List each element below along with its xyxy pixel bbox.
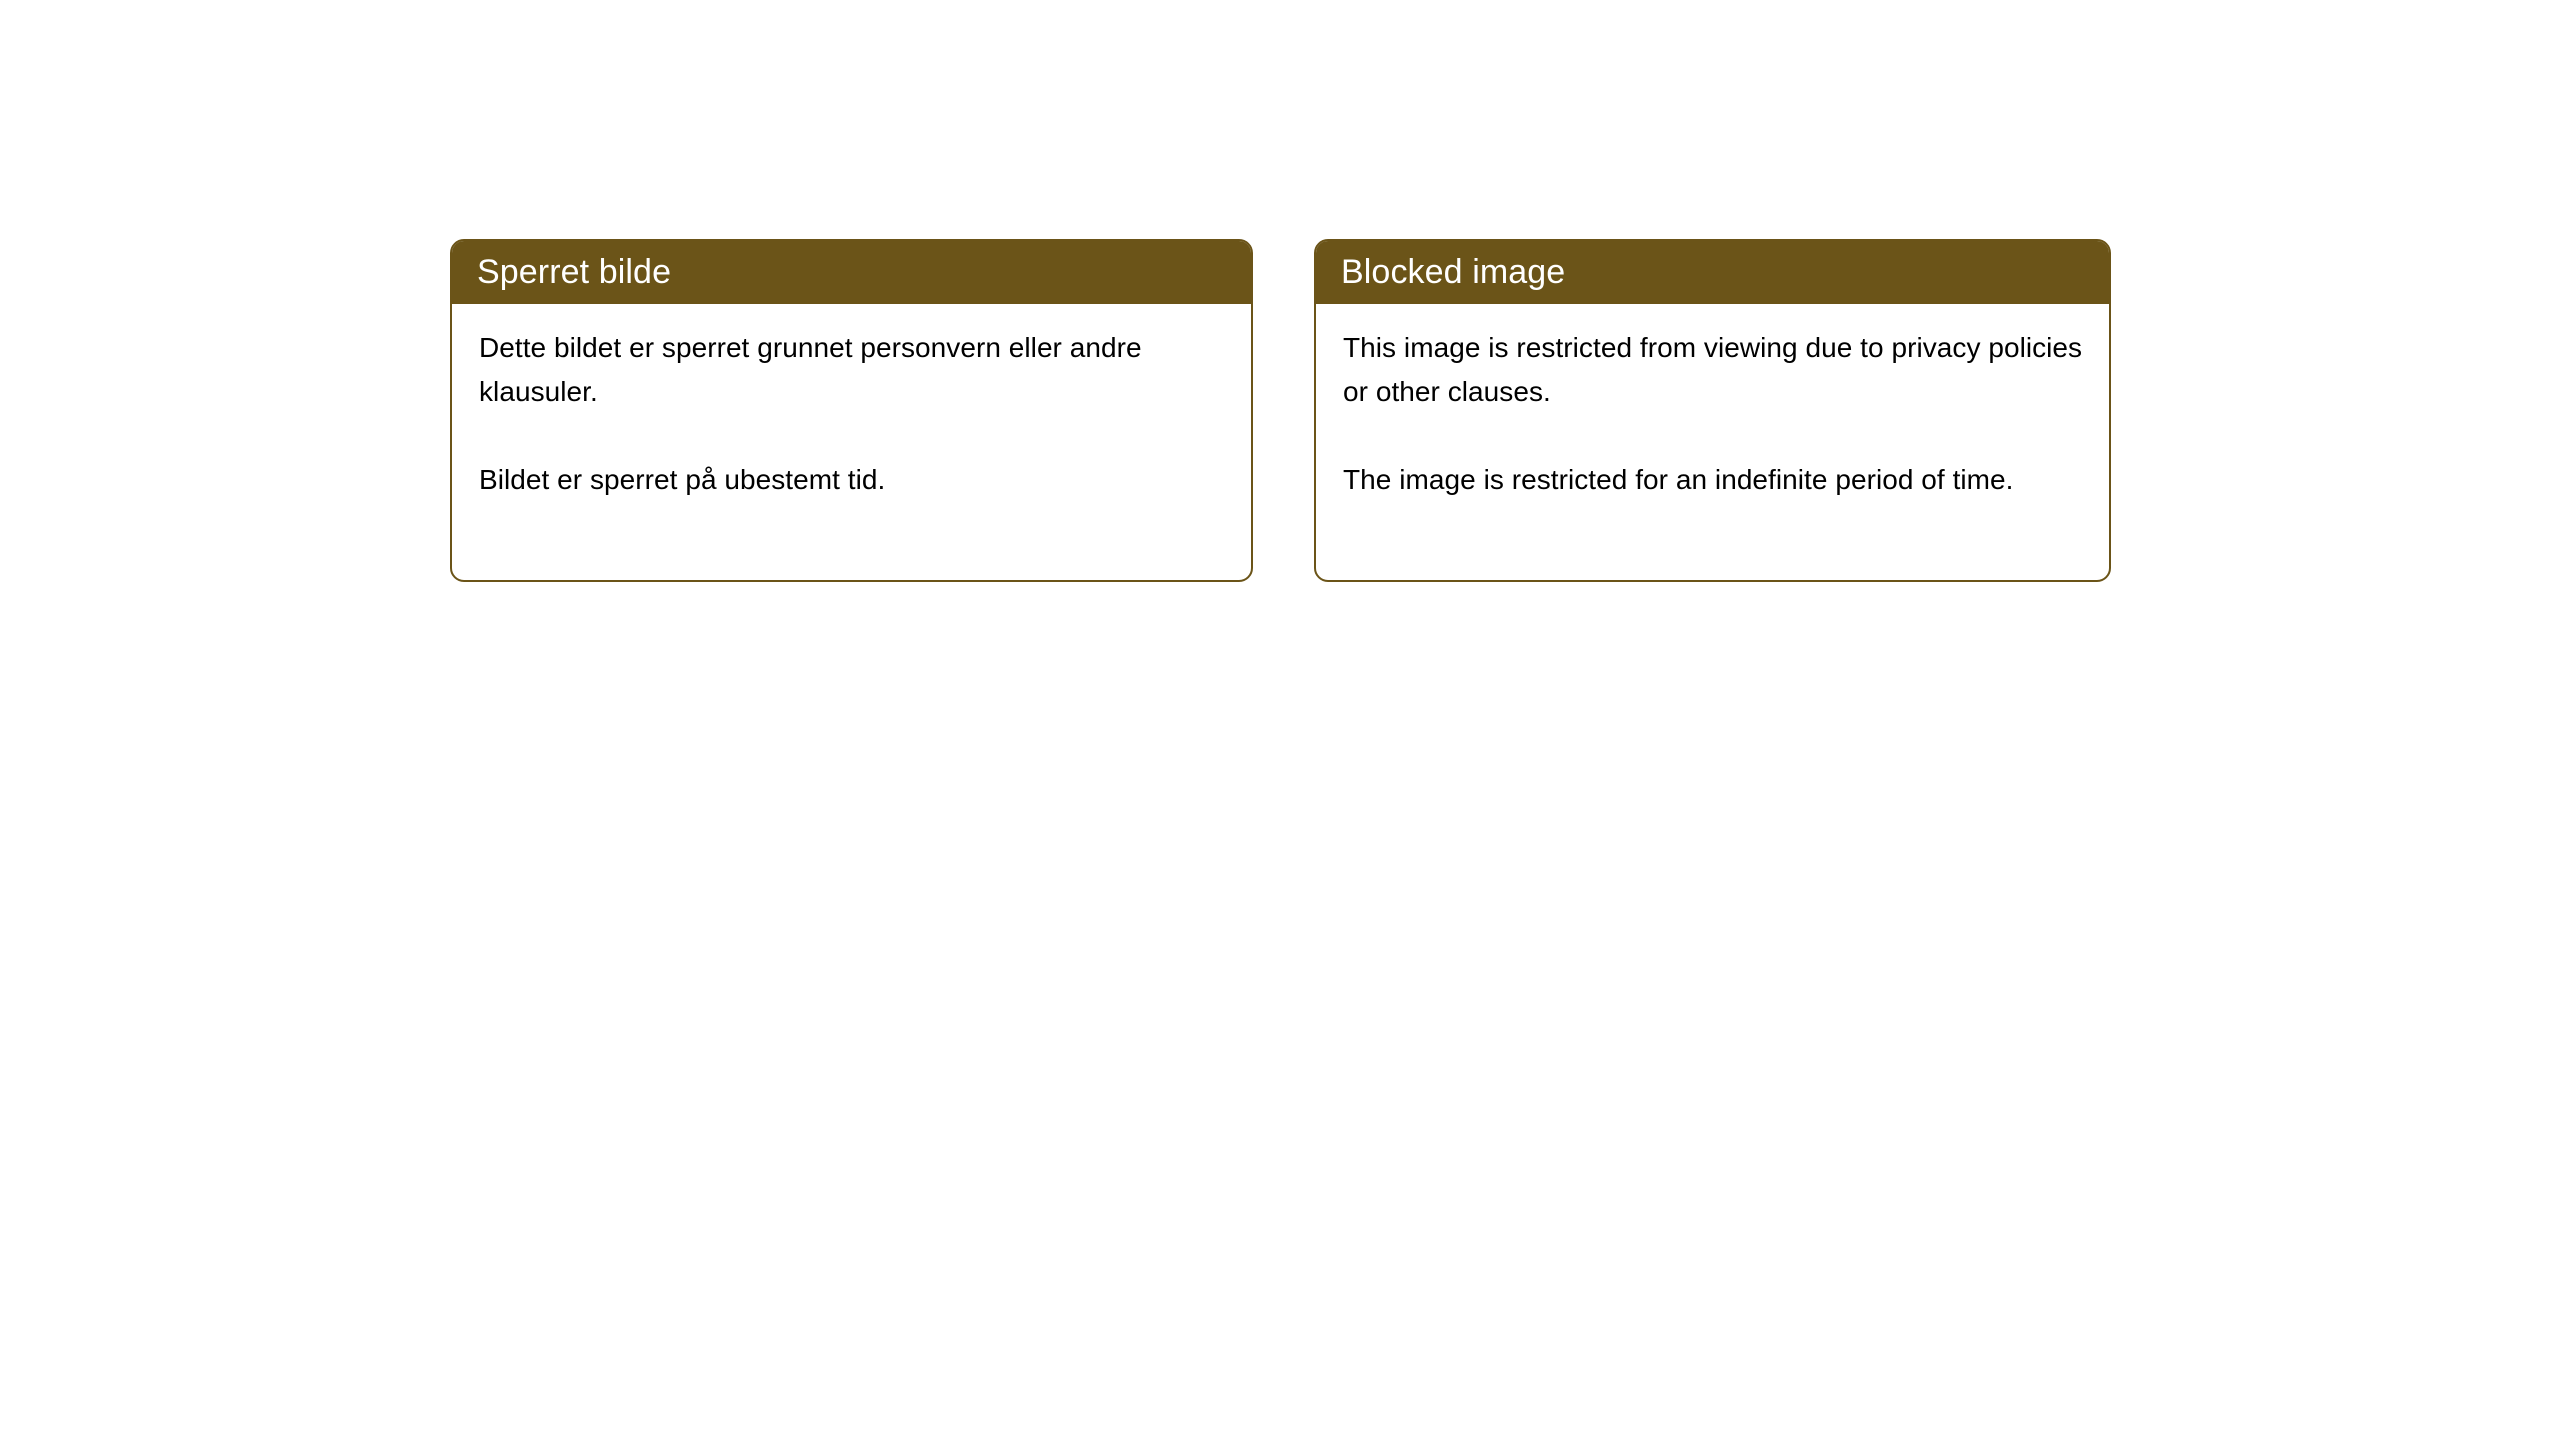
notice-paragraph-secondary-english: The image is restricted for an indefinit…: [1343, 458, 2083, 502]
card-header-english: Blocked image: [1314, 239, 2111, 304]
card-body-english: This image is restricted from viewing du…: [1316, 304, 2109, 502]
paragraph-spacer: [479, 414, 1225, 458]
page-canvas: Sperret bilde Dette bildet er sperret gr…: [0, 0, 2560, 1440]
blocked-image-notice-norwegian: Sperret bilde Dette bildet er sperret gr…: [450, 239, 1253, 582]
notice-paragraph-primary-english: This image is restricted from viewing du…: [1343, 326, 2083, 414]
card-title-english: Blocked image: [1341, 253, 1565, 291]
notice-paragraph-secondary-norwegian: Bildet er sperret på ubestemt tid.: [479, 458, 1225, 502]
card-body-norwegian: Dette bildet er sperret grunnet personve…: [452, 304, 1251, 502]
notice-paragraph-primary-norwegian: Dette bildet er sperret grunnet personve…: [479, 326, 1225, 414]
card-header-norwegian: Sperret bilde: [450, 239, 1253, 304]
blocked-image-notice-english: Blocked image This image is restricted f…: [1314, 239, 2111, 582]
card-title-norwegian: Sperret bilde: [477, 253, 671, 291]
paragraph-spacer: [1343, 414, 2083, 458]
